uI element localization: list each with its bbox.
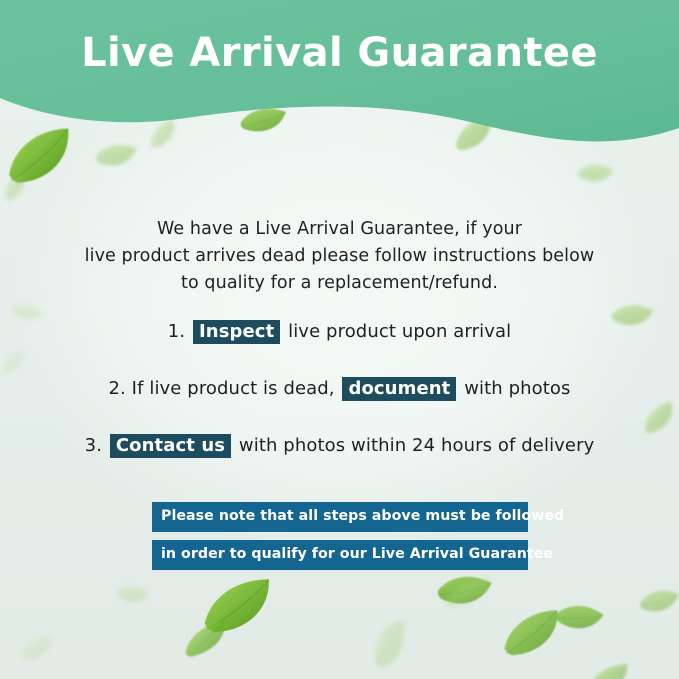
step-2-tail: with photos bbox=[464, 378, 570, 399]
step-2-highlight: document bbox=[342, 377, 456, 401]
step-1-tail: live product upon arrival bbox=[288, 321, 511, 342]
step-item-3: 3. Contact us with photos within 24 hour… bbox=[40, 434, 639, 458]
step-item-2: 2. If live product is dead, document wit… bbox=[40, 377, 639, 401]
intro-line-2: live product arrives dead please follow … bbox=[60, 243, 619, 270]
step-2-number: 2. bbox=[108, 378, 125, 399]
notice-line-1: Please note that all steps above must be… bbox=[152, 502, 528, 532]
header-band: Live Arrival Guarantee bbox=[0, 0, 679, 160]
live-arrival-guarantee-poster: Live Arrival Guarantee We have a Live Ar… bbox=[0, 0, 679, 679]
leaf-icon bbox=[497, 606, 567, 660]
intro-paragraph: We have a Live Arrival Guarantee, if you… bbox=[60, 216, 619, 297]
step-2-lead: If live product is dead, bbox=[132, 378, 335, 399]
leaf-icon bbox=[636, 581, 679, 621]
step-3-tail: with photos within 24 hours of delivery bbox=[239, 435, 594, 456]
leaf-icon bbox=[637, 399, 679, 437]
page-title: Live Arrival Guarantee bbox=[0, 31, 679, 75]
leaf-icon bbox=[584, 661, 634, 679]
notice-banner: Please note that all steps above must be… bbox=[152, 502, 528, 570]
leaf-icon bbox=[0, 170, 33, 204]
leaf-icon bbox=[551, 591, 608, 643]
leaf-icon bbox=[0, 349, 28, 375]
leaf-icon bbox=[197, 574, 278, 638]
leaf-icon bbox=[114, 575, 152, 612]
step-3-number: 3. bbox=[85, 435, 102, 456]
steps-list: 1. Inspect live product upon arrival 2. … bbox=[40, 320, 639, 458]
intro-line-3: to quality for a replacement/refund. bbox=[60, 270, 619, 297]
step-3-highlight: Contact us bbox=[110, 434, 231, 458]
leaf-icon bbox=[438, 574, 498, 611]
notice-line-2: in order to qualify for our Live Arrival… bbox=[152, 540, 528, 570]
intro-line-1: We have a Live Arrival Guarantee, if you… bbox=[60, 216, 619, 243]
leaf-icon bbox=[19, 635, 55, 661]
leaf-icon bbox=[370, 617, 410, 671]
step-1-number: 1. bbox=[168, 321, 185, 342]
leaf-icon bbox=[432, 562, 495, 619]
leaf-icon bbox=[177, 617, 236, 662]
step-item-1: 1. Inspect live product upon arrival bbox=[40, 320, 639, 344]
step-1-highlight: Inspect bbox=[193, 320, 280, 344]
